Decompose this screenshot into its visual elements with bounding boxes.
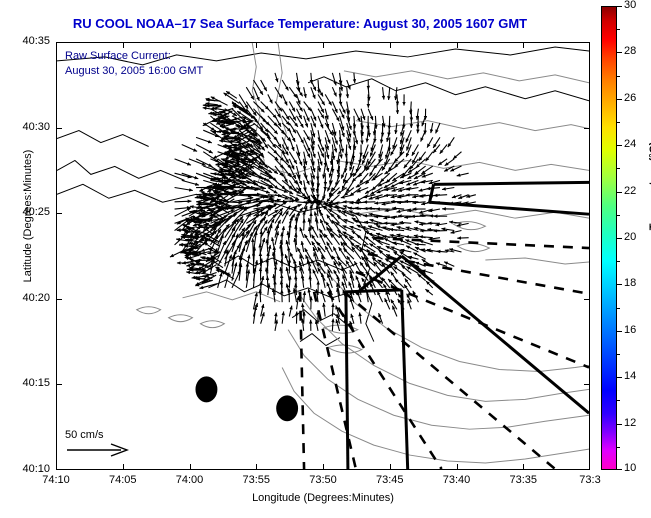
- x-tick-mark: [123, 464, 124, 470]
- current-vector-arrow: [356, 159, 361, 173]
- colorbar-minor-tick: [617, 354, 620, 355]
- current-vector-arrow: [268, 230, 269, 245]
- x-tick-label: 74:10: [34, 474, 78, 486]
- x-tick-label: 73:55: [234, 474, 278, 486]
- colorbar-tick-mark: [617, 145, 622, 146]
- current-vector-arrow: [370, 283, 375, 295]
- current-vector-arrow: [325, 246, 332, 259]
- current-vector-arrow: [318, 137, 324, 151]
- current-vector-arrow: [304, 312, 305, 324]
- current-vector-arrow: [320, 234, 325, 245]
- current-vector-arrow: [457, 223, 469, 225]
- current-vector-arrow: [431, 123, 433, 133]
- current-vector-arrow: [421, 166, 432, 174]
- x-axis-label: Longitude (Degrees:Minutes): [56, 492, 590, 504]
- x-tick-mark: [190, 464, 191, 470]
- current-vector-arrow: [218, 273, 222, 288]
- current-vector-arrow: [451, 231, 462, 233]
- station-marker: [276, 395, 298, 421]
- current-vector-arrow: [268, 195, 282, 196]
- y-tick-mark: [584, 213, 590, 214]
- current-vector-arrow: [425, 289, 432, 295]
- current-vector-arrow: [383, 87, 384, 99]
- current-vector-arrow: [408, 166, 418, 173]
- current-vector-arrow: [393, 266, 404, 273]
- current-vector-arrow: [282, 109, 289, 120]
- current-vector-arrow: [436, 263, 447, 266]
- current-vector-arrow: [356, 195, 368, 202]
- colorbar-minor-tick: [617, 447, 620, 448]
- scale-legend-label: 50 cm/s: [65, 429, 175, 441]
- current-vector-arrow: [381, 130, 382, 143]
- current-vector-arrow: [288, 247, 289, 260]
- station-marker: [195, 376, 217, 402]
- current-vector-arrow: [375, 116, 376, 129]
- current-vector-arrow: [384, 180, 397, 188]
- x-tick-mark: [523, 464, 524, 470]
- x-tick-mark: [390, 42, 391, 48]
- current-vector-arrow: [289, 87, 296, 98]
- current-vector-arrow: [351, 314, 354, 324]
- colorbar-tick-label: 28: [624, 45, 636, 57]
- current-vector-arrow: [182, 180, 199, 185]
- current-vector-arrow: [404, 201, 418, 202]
- y-tick-label: 40:15: [6, 377, 50, 389]
- colorbar-minor-tick: [617, 76, 620, 77]
- current-vector-arrow: [419, 236, 433, 237]
- x-tick-label: 73:3: [568, 474, 612, 486]
- y-tick-mark: [56, 299, 62, 300]
- colorbar-tick-label: 26: [624, 92, 636, 104]
- current-vector-arrow: [333, 247, 339, 260]
- current-vector-arrow: [268, 94, 273, 103]
- current-vector-arrow: [360, 312, 361, 323]
- current-vector-arrow: [345, 159, 346, 172]
- colorbar-tick-mark: [617, 284, 622, 285]
- x-tick-label: 73:45: [368, 474, 412, 486]
- y-tick-mark: [584, 128, 590, 129]
- map-plot-area[interactable]: Raw Surface Current: August 30, 2005 16:…: [56, 42, 590, 470]
- scale-legend-arrow-icon: [65, 443, 135, 457]
- current-vector-arrow: [290, 253, 296, 267]
- current-vector-arrow: [197, 202, 209, 203]
- current-vector-arrow: [319, 229, 325, 238]
- y-tick-mark: [56, 384, 62, 385]
- screenshot-root: RU COOL NOAA–17 Sea Surface Temperature:…: [0, 0, 651, 518]
- y-tick-label: 40:10: [6, 463, 50, 475]
- current-vector-arrow: [282, 311, 283, 323]
- current-vector-arrow: [302, 303, 303, 316]
- current-vector-arrow: [374, 216, 389, 217]
- colorbar-tick-label: 24: [624, 138, 636, 150]
- current-vector-arrow: [304, 102, 311, 111]
- current-vector-arrow: [282, 80, 288, 90]
- colorbar-tick-mark: [617, 424, 622, 425]
- current-vector-arrow: [367, 130, 368, 142]
- x-tick-mark: [457, 42, 458, 48]
- colorbar-minor-tick: [617, 308, 620, 309]
- current-vector-arrow: [332, 73, 336, 86]
- current-vector-arrow: [421, 130, 426, 141]
- x-tick-label: 74:00: [168, 474, 212, 486]
- colorbar-tick-mark: [617, 6, 622, 7]
- current-vector-arrow: [325, 94, 331, 105]
- current-vector-arrow: [331, 233, 339, 245]
- colorbar-tick-label: 20: [624, 231, 636, 243]
- colorbar-minor-tick: [617, 400, 620, 401]
- current-vector-arrow: [389, 229, 404, 230]
- temperature-colorbar[interactable]: 3028262422201816141210: [601, 6, 617, 470]
- current-vector-arrow: [452, 195, 462, 198]
- current-vector-arrow: [374, 166, 382, 179]
- colorbar-tick-mark: [617, 52, 622, 53]
- current-vector-arrow: [389, 87, 390, 100]
- current-vector-arrow: [402, 273, 411, 280]
- colorbar-tick-mark: [617, 331, 622, 332]
- current-vector-arrow: [261, 102, 269, 110]
- current-vector-arrow: [253, 87, 259, 101]
- colorbar-gradient: [601, 6, 617, 470]
- colorbar-tick-label: 14: [624, 370, 636, 382]
- current-vector-arrow: [349, 237, 361, 245]
- x-tick-mark: [523, 42, 524, 48]
- current-vector-arrow: [413, 180, 426, 185]
- current-vector-arrow: [289, 276, 290, 288]
- x-tick-mark: [123, 42, 124, 48]
- current-vector-arrow: [442, 188, 454, 190]
- current-vector-arrow: [356, 276, 361, 288]
- current-vector-arrow: [414, 221, 425, 223]
- current-vector-arrow: [427, 137, 433, 147]
- current-vector-arrow: [327, 227, 333, 238]
- colorbar-tick-label: 16: [624, 324, 636, 336]
- current-vector-arrow: [175, 201, 192, 202]
- current-vector-arrow: [406, 145, 411, 158]
- current-vector-arrow: [302, 241, 304, 252]
- current-vector-arrow: [332, 180, 339, 191]
- radar-sector-solid-layer: [346, 182, 589, 469]
- current-vector-arrow: [296, 296, 298, 309]
- current-vector-arrow: [368, 109, 373, 120]
- colorbar-tick-label: 18: [624, 277, 636, 289]
- colorbar-tick-mark: [617, 377, 622, 378]
- colorbar-tick-label: 10: [624, 462, 636, 474]
- colorbar-minor-tick: [617, 261, 620, 262]
- y-tick-mark: [584, 384, 590, 385]
- current-vector-arrow: [377, 291, 382, 302]
- colorbar-tick-label: 22: [624, 185, 636, 197]
- colorbar-tick-mark: [617, 192, 622, 193]
- current-vector-arrow: [343, 226, 354, 231]
- x-tick-mark: [323, 42, 324, 48]
- current-vector-arrow: [318, 80, 319, 93]
- current-vector-arrow: [318, 247, 325, 259]
- x-tick-mark: [390, 464, 391, 470]
- x-tick-mark: [457, 464, 458, 470]
- current-vector-arrow: [448, 137, 454, 147]
- colorbar-minor-tick: [617, 29, 620, 30]
- current-vector-arrow: [321, 290, 325, 303]
- x-tick-mark: [190, 42, 191, 48]
- y-tick-mark: [584, 299, 590, 300]
- current-vector-arrow: [391, 180, 405, 187]
- x-tick-label: 73:40: [435, 474, 479, 486]
- current-vector-arrow: [318, 116, 323, 128]
- current-vector-arrow: [363, 244, 376, 252]
- coastline-layer: [57, 47, 589, 346]
- x-tick-label: 74:05: [101, 474, 145, 486]
- current-vector-arrow: [384, 195, 397, 196]
- colorbar-minor-tick: [617, 168, 620, 169]
- current-vector-arrow: [426, 152, 433, 161]
- colorbar-tick-mark: [617, 99, 622, 100]
- current-vector-arrow: [175, 188, 193, 191]
- page-title: RU COOL NOAA–17 Sea Surface Temperature:…: [0, 16, 600, 31]
- current-vector-arrow: [267, 259, 268, 274]
- colorbar-tick-mark: [617, 238, 622, 239]
- current-vector-arrow: [304, 234, 310, 245]
- current-vector-arrow: [261, 80, 267, 91]
- current-vector-arrow: [405, 236, 418, 237]
- current-vector-arrow: [376, 240, 389, 244]
- colorbar-tick-mark: [617, 469, 622, 470]
- station-marker-layer: [195, 376, 298, 421]
- current-vector-arrow: [196, 137, 212, 142]
- x-tick-mark: [323, 464, 324, 470]
- current-vector-arrow: [304, 291, 305, 302]
- current-vector-arrow: [182, 145, 197, 152]
- x-tick-label: 73:35: [501, 474, 545, 486]
- x-tick-mark: [256, 464, 257, 470]
- current-vector-arrow: [332, 319, 333, 331]
- current-vector-arrow: [289, 306, 291, 317]
- current-vector-arrow: [282, 94, 287, 105]
- current-vector-arrow: [206, 103, 218, 104]
- current-vector-arrow: [304, 219, 305, 231]
- current-vector-arrow: [275, 137, 281, 147]
- scale-legend: 50 cm/s: [65, 429, 175, 457]
- current-vector-arrow: [354, 73, 355, 83]
- current-vector-arrow: [347, 87, 348, 98]
- current-vector-arrow: [218, 241, 226, 259]
- current-vector-arrow: [323, 303, 325, 317]
- current-vector-arrow: [341, 195, 354, 198]
- x-tick-mark: [256, 42, 257, 48]
- current-vector-arrow: [457, 173, 469, 176]
- current-vector-arrow: [440, 145, 447, 154]
- current-vector-arrow: [338, 261, 346, 273]
- current-vector-arrow: [332, 87, 336, 96]
- current-vector-arrow: [275, 73, 278, 82]
- x-tick-label: 73:50: [301, 474, 345, 486]
- current-vector-arrow: [289, 224, 290, 238]
- current-vector-arrow: [368, 123, 369, 137]
- y-tick-label: 40:35: [6, 35, 50, 47]
- current-vector-arrow: [300, 227, 304, 237]
- current-vector-arrow: [438, 159, 447, 165]
- current-vector-arrow: [268, 210, 279, 216]
- current-vector-arrow: [260, 289, 261, 302]
- current-vector-arrow: [415, 244, 426, 245]
- current-vector-arrow: [296, 87, 302, 96]
- y-tick-mark: [56, 128, 62, 129]
- colorbar-tick-label: 30: [624, 0, 636, 11]
- colorbar-tick-label: 12: [624, 417, 636, 429]
- current-vector-arrow: [275, 202, 287, 209]
- current-vector-arrow: [383, 236, 397, 237]
- current-vector-arrow: [363, 216, 375, 217]
- current-vector-arrow: [296, 130, 303, 143]
- map-graphics: [57, 43, 589, 469]
- y-axis-label: Latitude (Degrees:Minutes): [22, 96, 34, 336]
- current-vector-arrow: [304, 87, 306, 98]
- current-vector-arrow: [309, 289, 311, 302]
- current-vector-arrow: [436, 123, 440, 133]
- y-tick-mark: [56, 213, 62, 214]
- current-vector-arrow: [354, 109, 360, 122]
- colorbar-minor-tick: [617, 215, 620, 216]
- current-vector-arrow: [175, 159, 191, 165]
- current-vector-arrow: [453, 152, 461, 159]
- current-vector-arrow: [226, 91, 237, 98]
- colorbar-minor-tick: [617, 122, 620, 123]
- current-vector-arrow: [397, 102, 398, 114]
- current-vector-arrow: [261, 230, 262, 245]
- current-vector-arrow: [396, 123, 397, 134]
- current-vector-arrow: [275, 313, 276, 324]
